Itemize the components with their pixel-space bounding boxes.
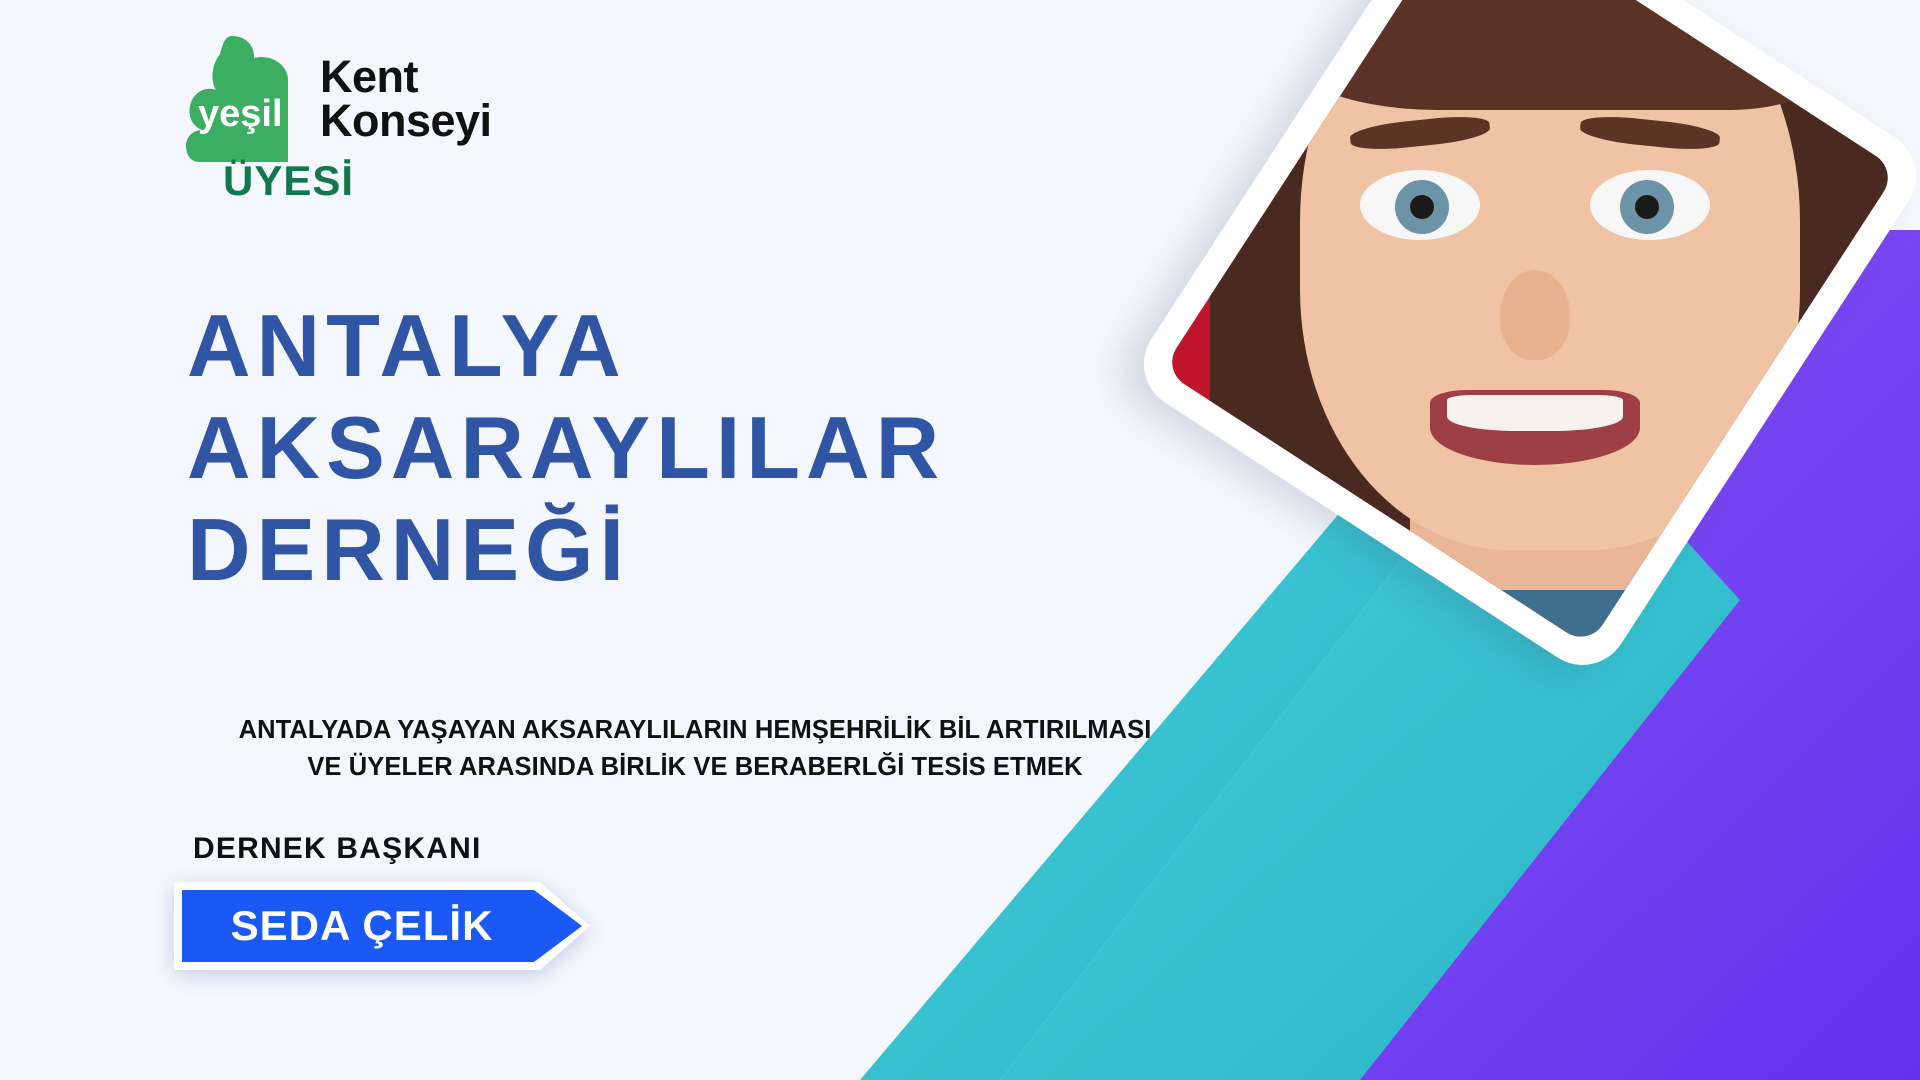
- portrait-photo-card: [1126, 0, 1920, 682]
- portrait-photo-inner-frame: [1162, 0, 1897, 647]
- president-role-label: DERNEK BAŞKANI: [193, 832, 482, 866]
- portrait-shirt: [1270, 590, 1870, 647]
- yesil-kent-konseyi-logo-icon: yeşil: [186, 30, 306, 168]
- portrait-photo: [1162, 0, 1897, 647]
- logo-wordmark: Kent Konseyi: [320, 55, 492, 143]
- membership-label: ÜYESİ: [223, 157, 354, 205]
- president-name: SEDA ÇELİK: [182, 880, 534, 972]
- logo-mark-word: yeşil: [198, 93, 283, 135]
- portrait-fringe: [1270, 0, 1830, 110]
- portrait-mouth: [1430, 390, 1640, 465]
- portrait-pupil-right: [1635, 195, 1659, 219]
- portrait-teeth: [1447, 395, 1623, 431]
- page-title-line-3: DERNEĞİ: [187, 499, 945, 601]
- logo-block: yeşil Kent Konseyi: [186, 30, 492, 168]
- poster-canvas: yeşil Kent Konseyi ÜYESİ ANTALYA AKSARAY…: [0, 0, 1920, 1080]
- mission-statement-line-1: ANTALYADA YAŞAYAN AKSARAYLILARIN HEMŞEHR…: [195, 712, 1195, 749]
- page-title-line-1: ANTALYA: [187, 295, 945, 397]
- mission-statement: ANTALYADA YAŞAYAN AKSARAYLILARIN HEMŞEHR…: [195, 712, 1195, 785]
- page-title-line-2: AKSARAYLILAR: [187, 397, 945, 499]
- portrait-nose: [1500, 270, 1570, 360]
- president-name-badge[interactable]: SEDA ÇELİK: [182, 880, 602, 972]
- logo-word-line1: Kent: [320, 55, 492, 99]
- portrait-pupil-left: [1410, 195, 1434, 219]
- page-title: ANTALYA AKSARAYLILAR DERNEĞİ: [187, 295, 945, 601]
- logo-word-line2: Konseyi: [320, 99, 492, 143]
- mission-statement-line-2: VE ÜYELER ARASINDA BİRLİK VE BERABERLĞİ …: [195, 749, 1195, 786]
